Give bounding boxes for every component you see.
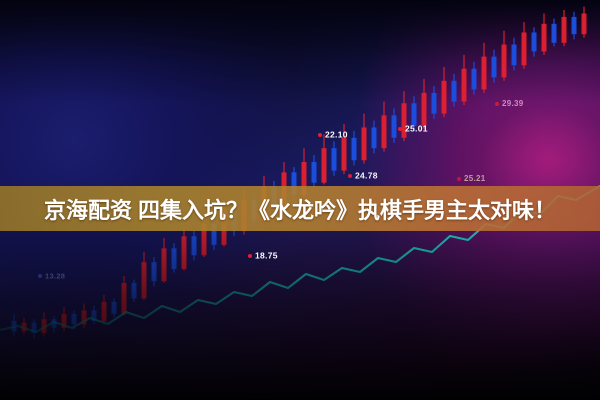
background-bottom-shade [0, 208, 600, 400]
candle-body [552, 24, 557, 43]
candle-body [442, 81, 447, 114]
headline-banner: 京海配资 四集入坑？《水龙吟》执棋手男主太对味！ [0, 186, 600, 231]
candle-body [352, 138, 357, 160]
price-label: 13.28 [38, 272, 65, 280]
candle-body [462, 69, 467, 102]
candle-body [412, 103, 417, 125]
candle-body [502, 45, 507, 78]
price-label-value: 18.75 [255, 251, 278, 261]
candle-body [542, 24, 547, 52]
candle-body [512, 45, 517, 66]
candle-body [562, 17, 567, 43]
candle-body [582, 13, 587, 34]
candle-body [372, 127, 377, 148]
price-label: 24.78 [348, 171, 378, 180]
candle-body [382, 115, 387, 148]
candle-body [532, 32, 537, 51]
candle-body [332, 148, 337, 170]
price-label-dot [457, 177, 461, 181]
price-label: 18.75 [248, 251, 278, 260]
candle-body [432, 93, 437, 114]
candle-body [492, 57, 497, 78]
price-label: 29.39 [495, 100, 524, 108]
candle-body [522, 32, 527, 65]
price-label-dot [495, 102, 499, 106]
price-label: 22.10 [318, 130, 348, 139]
stock-chart-banner-image: 13.2818.7522.1024.7825.0125.2129.39 京海配资… [0, 0, 600, 400]
candle-body [392, 115, 397, 137]
price-label-dot [248, 254, 252, 258]
candle-body [322, 148, 327, 183]
price-label-dot [348, 174, 352, 178]
headline-text: 京海配资 四集入坑？《水龙吟》执棋手男主太对味！ [44, 193, 556, 225]
price-label: 25.01 [398, 124, 428, 133]
price-label-dot [318, 133, 322, 137]
price-label-dot [398, 127, 402, 131]
candle-body [482, 57, 487, 90]
price-label: 25.21 [457, 175, 486, 183]
candle-body [362, 127, 367, 160]
candle-body [312, 162, 317, 183]
candle-body [452, 81, 457, 102]
candle-body [342, 138, 347, 171]
price-label-dot [38, 274, 42, 278]
candle-body [422, 93, 427, 126]
price-label-value: 25.01 [405, 124, 428, 134]
price-label-value: 25.21 [464, 174, 486, 183]
price-label-value: 29.39 [502, 99, 524, 108]
candle-body [572, 17, 577, 34]
candle-body [472, 69, 477, 90]
price-label-value: 22.10 [325, 130, 348, 140]
price-label-value: 13.28 [45, 271, 65, 280]
price-label-value: 24.78 [355, 171, 378, 181]
